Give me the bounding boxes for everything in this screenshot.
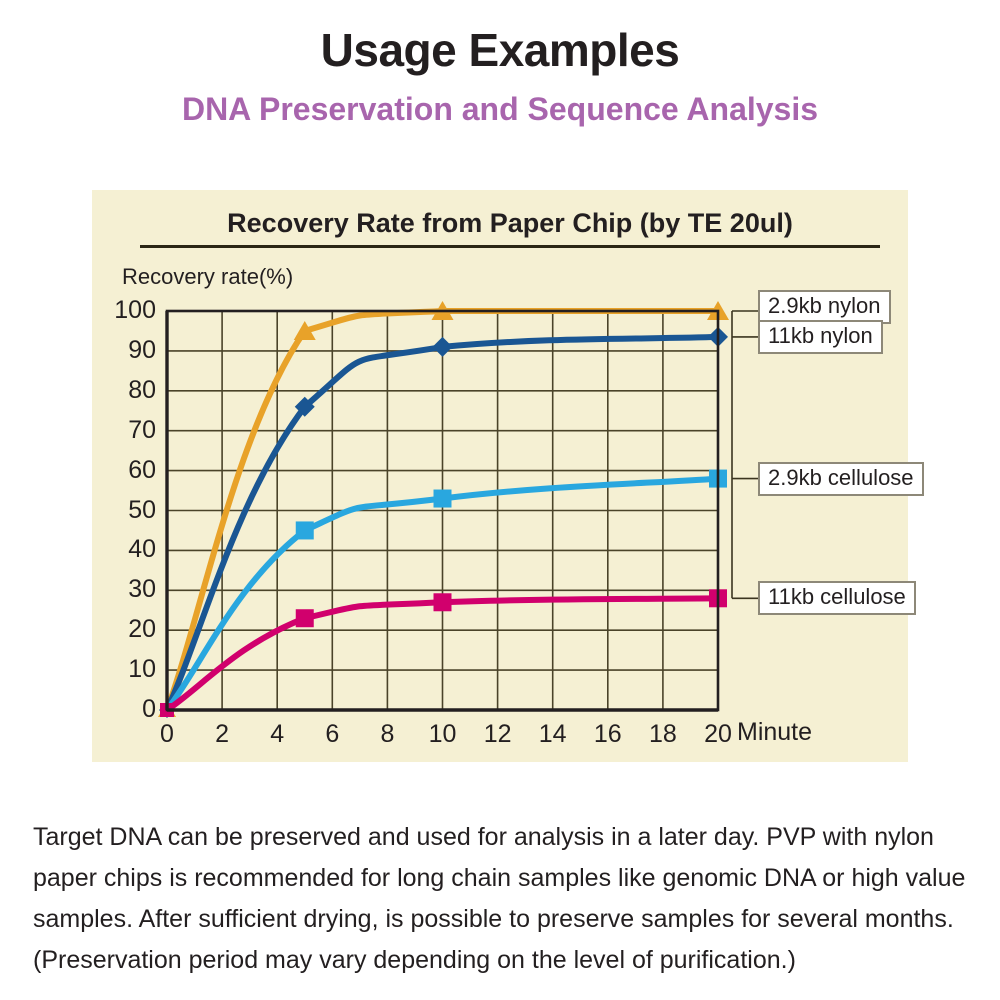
legend-leader-lines [732,311,758,598]
x-tick-label: 8 [362,722,412,747]
y-tick-label: 20 [94,617,156,642]
x-tick-label: 18 [638,722,688,747]
x-tick-label: 4 [252,722,302,747]
page-subtitle: DNA Preservation and Sequence Analysis [0,74,1000,127]
chart-panel: Recovery Rate from Paper Chip (by TE 20u… [92,190,908,762]
y-tick-label: 0 [94,697,156,722]
x-tick-label: 6 [307,722,357,747]
x-tick-label: 12 [473,722,523,747]
y-tick-label: 70 [94,418,156,443]
y-tick-label: 90 [94,338,156,363]
y-tick-label: 50 [94,498,156,523]
x-axis-title: Minute [737,718,812,747]
gridlines [167,311,718,710]
y-tick-label: 60 [94,458,156,483]
legend-item-2-9kb-nylon[interactable]: 2.9kb nylon [758,290,891,324]
y-tick-label: 30 [94,577,156,602]
y-tick-label: 100 [94,298,156,323]
x-tick-label: 14 [528,722,578,747]
x-tick-label: 16 [583,722,633,747]
x-tick-label: 2 [197,722,247,747]
legend-item-2-9kb-cellulose[interactable]: 2.9kb cellulose [758,462,924,496]
y-tick-label: 40 [94,537,156,562]
legend-item-11kb-cellulose[interactable]: 11kb cellulose [758,581,916,615]
x-tick-label: 0 [142,722,192,747]
legend-item-11kb-nylon[interactable]: 11kb nylon [758,320,883,354]
x-tick-label: 10 [418,722,468,747]
series-lines [158,301,729,718]
y-tick-label: 80 [94,378,156,403]
description-paragraph: Target DNA can be preserved and used for… [33,817,978,981]
page-title: Usage Examples [0,0,1000,74]
y-tick-label: 10 [94,657,156,682]
x-tick-label: 20 [693,722,743,747]
